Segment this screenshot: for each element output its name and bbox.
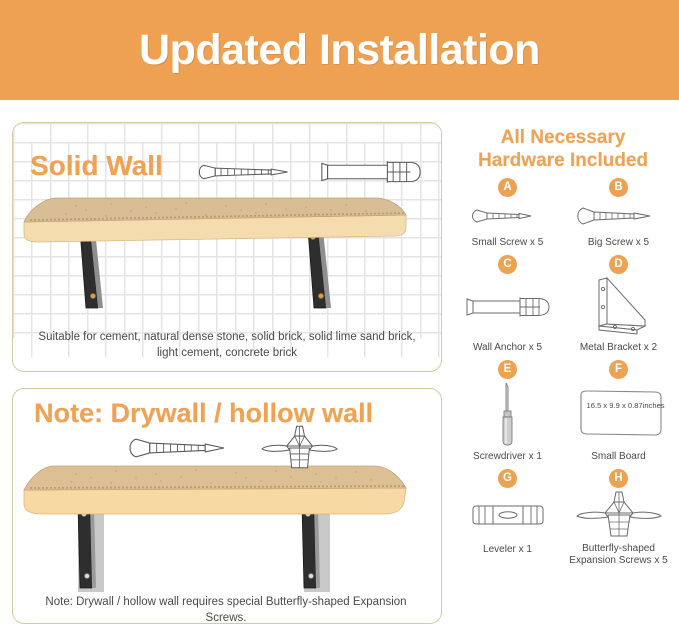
bracket-right: [302, 506, 320, 588]
hardware-item-big-screw: B Big Screw x 5: [563, 178, 674, 249]
hardware-label-d: Metal Bracket x 2: [580, 341, 657, 354]
badge-h: H: [609, 469, 628, 488]
hardware-label-b: Big Screw x 5: [588, 236, 649, 249]
hardware-label-h: Butterfly-shaped Expansion Screws x 5: [563, 543, 674, 567]
hardware-label-g: Leveler x 1: [483, 543, 532, 556]
screw-icon: [128, 433, 235, 463]
hardware-item-butterfly-screw: H Butterfly-shaped Expansion Sc: [563, 469, 674, 567]
shelf-illustration-drywall: [16, 462, 416, 590]
butterfly-anchor-icon: [261, 424, 338, 472]
hardware-list: All Necessary Hardware Included A: [452, 126, 674, 626]
hardware-label-c: Wall Anchor x 5: [473, 341, 542, 354]
badge-c: C: [498, 255, 517, 274]
solid-wall-hardware-icons: [196, 152, 426, 192]
screwdriver-icon: [495, 381, 521, 447]
solid-wall-caption: Suitable for cement, natural dense stone…: [28, 329, 426, 361]
badge-a: A: [498, 178, 517, 197]
hardware-title: All Necessary Hardware Included: [452, 126, 674, 172]
hardware-item-screwdriver: E Screwdriver x 1: [452, 360, 563, 463]
solid-wall-heading: Solid Wall: [30, 150, 163, 182]
installation-instruction-page: Updated Installation Solid Wall: [0, 0, 679, 634]
metal-bracket-icon: [589, 276, 649, 338]
hardware-item-metal-bracket: D Metal Bracket x 2: [563, 255, 674, 354]
bracket-left: [80, 230, 103, 308]
badge-e: E: [498, 360, 517, 379]
hardware-item-wall-anchor: C Wall Anchor x 5: [452, 255, 563, 354]
bracket-right: [308, 230, 331, 308]
hardware-title-line1: All Necessary: [452, 126, 674, 149]
hardware-title-line2: Hardware Included: [452, 149, 674, 172]
header-banner: Updated Installation: [0, 0, 679, 100]
bracket-left: [78, 506, 96, 588]
butterfly-screw-icon: [576, 490, 662, 540]
badge-d: D: [609, 255, 628, 274]
wall-anchor-icon: [464, 276, 552, 338]
shelf-illustration-solid: [16, 196, 408, 320]
hardware-grid: A Small Screw x 5 B: [452, 178, 674, 567]
hardware-item-small-board: F 16.5 x 9.9 x 0.87inches Small Board: [563, 360, 674, 463]
badge-b: B: [609, 178, 628, 197]
hardware-item-leveler: G Leveler x 1: [452, 469, 563, 567]
small-screw-icon: [471, 199, 545, 233]
shelf-front-edge: [24, 488, 406, 514]
board-icon: 16.5 x 9.9 x 0.87inches: [573, 381, 665, 447]
badge-f: F: [609, 360, 628, 379]
badge-g: G: [498, 469, 517, 488]
drywall-caption: Note: Drywall / hollow wall requires spe…: [30, 594, 422, 626]
drywall-hardware-icons: [128, 424, 338, 472]
screw-icon: [196, 157, 300, 187]
board-dimension-label: 16.5 x 9.9 x 0.87inches: [587, 401, 665, 410]
leveler-icon: [471, 490, 545, 540]
hardware-label-e: Screwdriver x 1: [473, 450, 542, 463]
hardware-item-small-screw: A Small Screw x 5: [452, 178, 563, 249]
hardware-label-f: Small Board: [591, 450, 645, 463]
wall-anchor-icon: [318, 157, 426, 187]
hardware-label-a: Small Screw x 5: [472, 236, 544, 249]
big-screw-icon: [576, 199, 662, 233]
page-title: Updated Installation: [139, 26, 540, 75]
